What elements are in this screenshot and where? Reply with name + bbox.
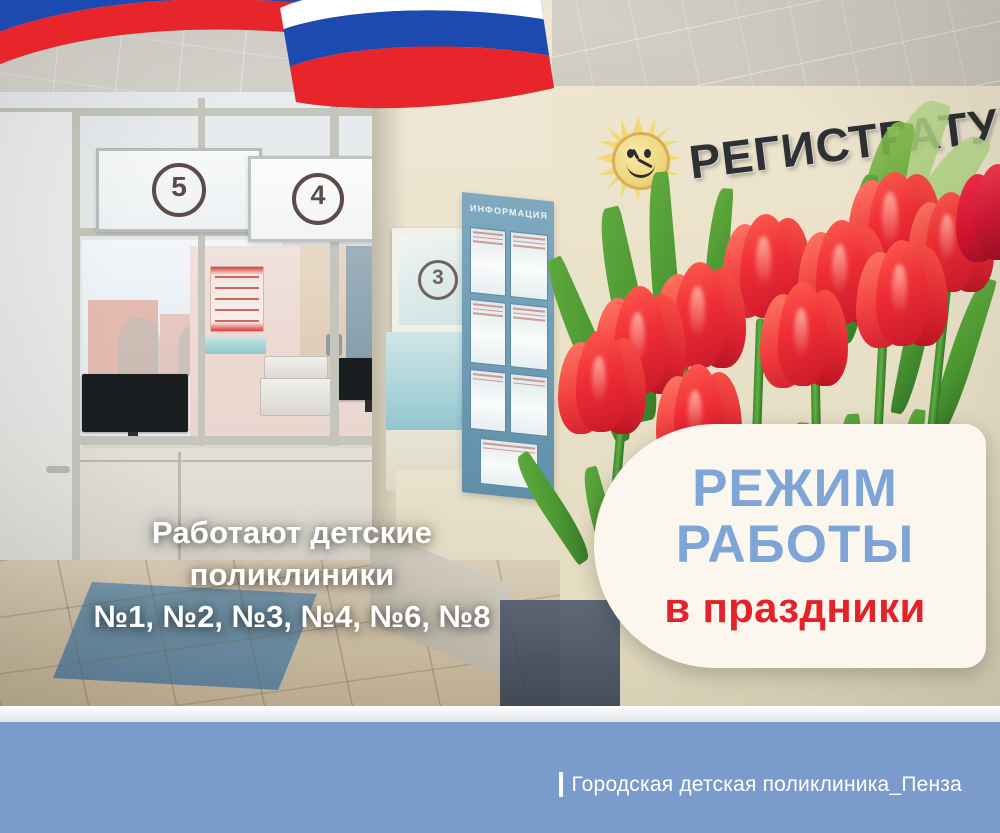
footer-accent-bar (559, 772, 563, 797)
card-line-2: РАБОТЫ (676, 518, 915, 572)
clinic-photo: РЕГИСТРАТУРА (0, 0, 1000, 706)
card-line-1: РЕЖИМ (692, 462, 898, 516)
headline-line-2: поликлиники (22, 554, 562, 596)
tulip (760, 282, 848, 394)
headline: Работают детские поликлиники №1, №2, №3,… (22, 512, 562, 638)
separator (0, 706, 1000, 722)
poster: РЕГИСТРАТУРА (0, 0, 1000, 833)
card-line-3: в праздники (664, 586, 925, 630)
window-number: 5 (152, 163, 206, 217)
footer-credit: Городская детская поликлиника_Пенза (559, 772, 962, 797)
headline-line-3: №1, №2, №3, №4, №6, №8 (22, 596, 562, 638)
window-sign-5: 5 (96, 148, 262, 232)
printer (260, 378, 334, 416)
right-ceiling-grid (540, 0, 1000, 86)
information-board-title: ИНФОРМАЦИЯ (470, 203, 548, 221)
wall-notice-teal (204, 338, 266, 354)
window-sign-4: 4 (248, 156, 388, 242)
window-number: 3 (418, 260, 458, 300)
door-handle (46, 466, 70, 473)
reception-interior (190, 246, 396, 441)
headline-line-1: Работают детские (22, 512, 562, 554)
window-number: 4 (292, 173, 344, 225)
schedule-card: РЕЖИМ РАБОТЫ в праздники (594, 424, 986, 668)
footer-bar: Городская детская поликлиника_Пенза (0, 722, 1000, 833)
tulip (856, 240, 948, 354)
monitor (82, 374, 188, 432)
information-board: ИНФОРМАЦИЯ (462, 192, 554, 502)
tulip (956, 164, 1000, 268)
wall-notice-poster (210, 266, 264, 332)
footer-credit-text: Городская детская поликлиника_Пенза (572, 773, 962, 797)
